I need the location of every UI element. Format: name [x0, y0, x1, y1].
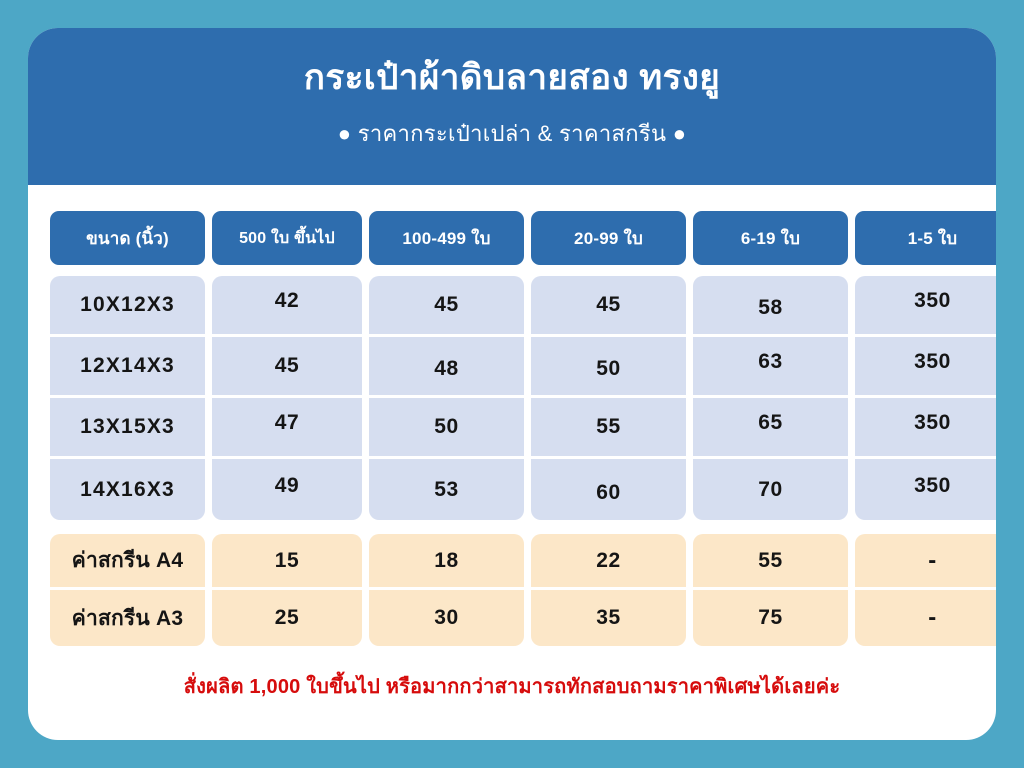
table-cell: 60 — [531, 459, 686, 520]
table-cell: 25 — [212, 590, 362, 646]
table-cell: - — [855, 534, 996, 590]
table-cell: 15 — [212, 534, 362, 590]
screen-rows-q100-block: 18 30 — [369, 534, 524, 646]
column-header-q6: 6-19 ใบ — [693, 211, 848, 265]
bag-rows-q500-block: 42 45 47 49 — [212, 276, 362, 520]
row-label: 12X14X3 — [50, 337, 205, 398]
table-cell: 58 — [693, 276, 848, 337]
table-cell: 350 — [855, 398, 996, 459]
table-cell: 65 — [693, 398, 848, 459]
screen-rows-q6-block: 55 75 — [693, 534, 848, 646]
footer-note: สั่งผลิต 1,000 ใบขึ้นไป หรือมากกว่าสามาร… — [50, 670, 974, 702]
row-label: 13X15X3 — [50, 398, 205, 459]
table-cell: 30 — [369, 590, 524, 646]
page-subtitle: ● ราคากระเป๋าเปล่า & ราคาสกรีน ● — [58, 116, 966, 151]
screen-rows-q20-block: 22 35 — [531, 534, 686, 646]
table-cell: 53 — [369, 459, 524, 520]
table-cell: 48 — [369, 337, 524, 398]
table-cell: 70 — [693, 459, 848, 520]
price-table-area: ขนาด (นิ้ว) 10X12X3 12X14X3 13X15X3 14X1… — [28, 185, 996, 702]
table-column-q6: 6-19 ใบ 58 63 65 70 55 75 — [693, 211, 848, 646]
bag-rows-q20-block: 45 50 55 60 — [531, 276, 686, 520]
page-title: กระเป๋าผ้าดิบลายสอง ทรงยู — [58, 56, 966, 100]
column-header-q100: 100-499 ใบ — [369, 211, 524, 265]
row-label: ค่าสกรีน A3 — [50, 590, 205, 646]
poster-header: กระเป๋าผ้าดิบลายสอง ทรงยู ● ราคากระเป๋าเ… — [28, 28, 996, 185]
table-cell: 45 — [212, 337, 362, 398]
screen-rows-q1-block: - - — [855, 534, 996, 646]
table-column-size: ขนาด (นิ้ว) 10X12X3 12X14X3 13X15X3 14X1… — [50, 211, 205, 646]
table-cell: 350 — [855, 276, 996, 337]
table-column-q100: 100-499 ใบ 45 48 50 53 18 30 — [369, 211, 524, 646]
table-cell: 49 — [212, 459, 362, 520]
screen-rows-q500-block: 15 25 — [212, 534, 362, 646]
table-cell: 350 — [855, 459, 996, 520]
table-cell: - — [855, 590, 996, 646]
table-cell: 22 — [531, 534, 686, 590]
table-column-q20: 20-99 ใบ 45 50 55 60 22 35 — [531, 211, 686, 646]
table-cell: 50 — [531, 337, 686, 398]
price-table: ขนาด (นิ้ว) 10X12X3 12X14X3 13X15X3 14X1… — [50, 211, 982, 646]
column-header-size: ขนาด (นิ้ว) — [50, 211, 205, 265]
table-cell: 47 — [212, 398, 362, 459]
row-label: 14X16X3 — [50, 459, 205, 520]
bag-rows-q100-block: 45 48 50 53 — [369, 276, 524, 520]
table-cell: 75 — [693, 590, 848, 646]
bag-rows-size-block: 10X12X3 12X14X3 13X15X3 14X16X3 — [50, 276, 205, 520]
table-cell: 50 — [369, 398, 524, 459]
table-column-q1: 1-5 ใบ 350 350 350 350 - - — [855, 211, 996, 646]
column-header-q20: 20-99 ใบ — [531, 211, 686, 265]
column-header-q1: 1-5 ใบ — [855, 211, 996, 265]
table-cell: 18 — [369, 534, 524, 590]
bag-rows-q6-block: 58 63 65 70 — [693, 276, 848, 520]
price-poster-card: กระเป๋าผ้าดิบลายสอง ทรงยู ● ราคากระเป๋าเ… — [28, 28, 996, 740]
row-label: ค่าสกรีน A4 — [50, 534, 205, 590]
table-cell: 35 — [531, 590, 686, 646]
screen-rows-label-block: ค่าสกรีน A4 ค่าสกรีน A3 — [50, 534, 205, 646]
table-cell: 42 — [212, 276, 362, 337]
table-cell: 63 — [693, 337, 848, 398]
table-cell: 55 — [693, 534, 848, 590]
bag-rows-q1-block: 350 350 350 350 — [855, 276, 996, 520]
table-cell: 45 — [531, 276, 686, 337]
table-cell: 350 — [855, 337, 996, 398]
table-cell: 45 — [369, 276, 524, 337]
table-cell: 55 — [531, 398, 686, 459]
table-column-q500: 500 ใบ ขึ้นไป 42 45 47 49 15 25 — [212, 211, 362, 646]
column-header-q500: 500 ใบ ขึ้นไป — [212, 211, 362, 265]
row-label: 10X12X3 — [50, 276, 205, 337]
